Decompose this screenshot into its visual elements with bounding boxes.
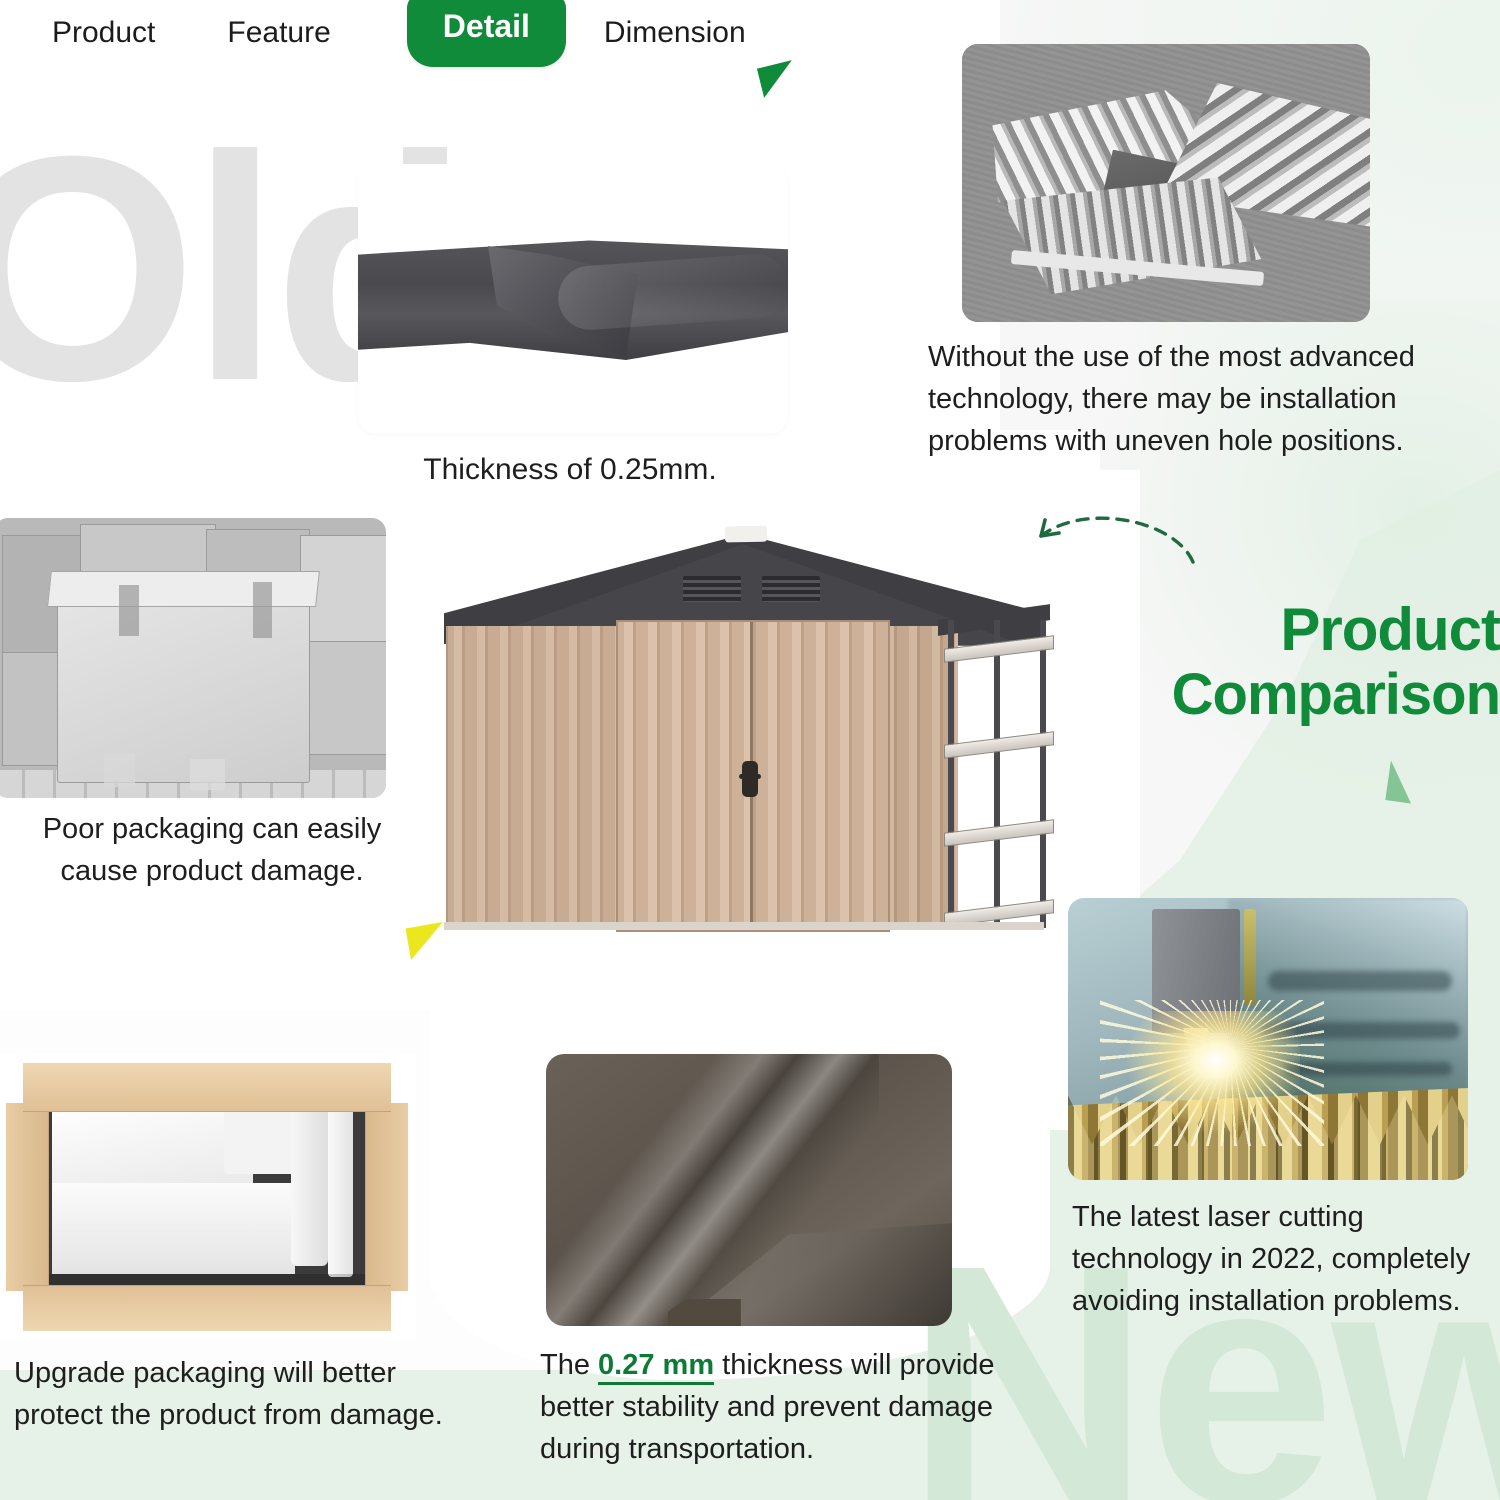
open-box-flap-bottom [23, 1285, 391, 1332]
infographic-page: Old New Product Feature Detail Dimension [0, 0, 1500, 1500]
collapsed-roof-image [962, 44, 1370, 322]
shed-double-doors [616, 620, 890, 932]
caption-new-thickness-before: The [540, 1349, 598, 1381]
caption-upgrade-packaging: Upgrade packaging will better protect th… [14, 1352, 464, 1436]
dashed-curved-arrow-icon [1015, 500, 1205, 586]
laser-spark-burst [1124, 1011, 1300, 1135]
open-box-flap-left [6, 1103, 49, 1292]
shed-hero-image [440, 508, 1050, 928]
heading-line-2: Comparison [1122, 663, 1500, 728]
box-back-f [308, 641, 386, 755]
shed-vent-right [762, 576, 820, 602]
shelf-post-2 [994, 620, 1000, 928]
laser-cutting-image [1068, 898, 1468, 1180]
tab-detail[interactable]: Detail [407, 0, 566, 67]
shed-ridge-cap [725, 526, 767, 543]
laser-guide-rod [1244, 909, 1256, 1005]
product-comparison-heading: Product Comparison [1122, 596, 1500, 728]
open-box-image [0, 1054, 416, 1340]
shed-door-handle [742, 761, 758, 797]
box-open-lid [47, 571, 319, 607]
shelf-post-1 [948, 620, 954, 928]
tab-feature[interactable]: Feature [227, 0, 330, 50]
box-label-left [104, 753, 135, 787]
foam-wrap-a [52, 1103, 253, 1189]
box-tape-left [119, 585, 139, 635]
caption-uneven-holes: Without the use of the most advanced tec… [928, 336, 1448, 462]
shelf-post-3 [1040, 620, 1046, 928]
shed-shelving-unit [948, 620, 1048, 928]
shed-right-wall [880, 626, 958, 926]
foam-wrap-b [52, 1183, 294, 1275]
old-panel-image-card [358, 164, 788, 434]
heading-line-1: Product [1122, 596, 1500, 663]
caption-laser-technology: The latest laser cutting technology in 2… [1072, 1196, 1492, 1322]
open-box-flap-right [365, 1103, 408, 1292]
tab-dimension[interactable]: Dimension [604, 0, 746, 50]
open-box-flap-top [23, 1063, 391, 1113]
foam-wrap-e [328, 1100, 353, 1277]
caption-new-thickness: The 0.27 mm thickness will provide bette… [540, 1344, 1040, 1470]
shed-vent-left [683, 576, 741, 602]
new-panel-image-card [546, 1054, 952, 1326]
foam-wrap-d [291, 1105, 329, 1265]
stacked-boxes-image [0, 518, 386, 798]
yellow-triangle-icon [406, 922, 449, 960]
tab-product[interactable]: Product [52, 0, 155, 50]
thickness-highlight: 0.27 mm [598, 1349, 714, 1385]
caption-old-thickness: Thickness of 0.25mm. [330, 448, 810, 492]
nav-tabs: Product Feature Detail Dimension [0, 0, 1500, 80]
laser-streak-1 [1268, 971, 1452, 991]
caption-poor-packaging: Poor packaging can easily cause product … [12, 808, 412, 892]
box-label-right [190, 759, 225, 790]
shed-base-rail [444, 922, 1044, 930]
light-green-triangle-icon [1385, 760, 1416, 803]
box-tape-right [253, 582, 273, 638]
